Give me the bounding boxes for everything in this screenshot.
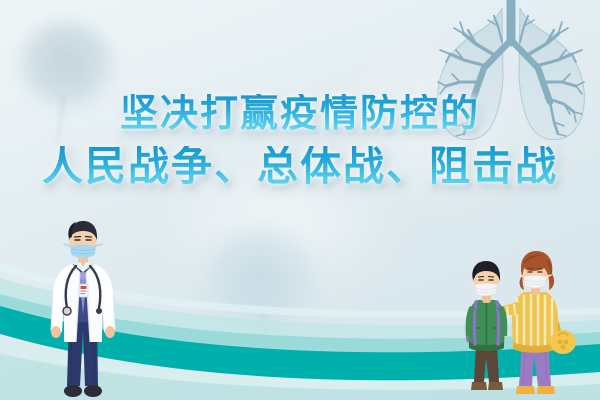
blurred-tree-left-icon (18, 22, 114, 108)
doctor-illustration (36, 218, 132, 400)
blurred-tree-left-stem (54, 96, 65, 164)
headline-line-2-outline: 人民战争、总体战、阻击战 (0, 160, 600, 201)
family-illustration (462, 250, 590, 400)
lungs-icon (410, 0, 600, 140)
headline-line-2: 人民战争、总体战、阻击战 (0, 146, 600, 187)
poster-canvas: 坚决打赢疫情防控的 坚决打赢疫情防控的 人民战争、总体战、阻击战 人民战争、总体… (0, 0, 600, 400)
